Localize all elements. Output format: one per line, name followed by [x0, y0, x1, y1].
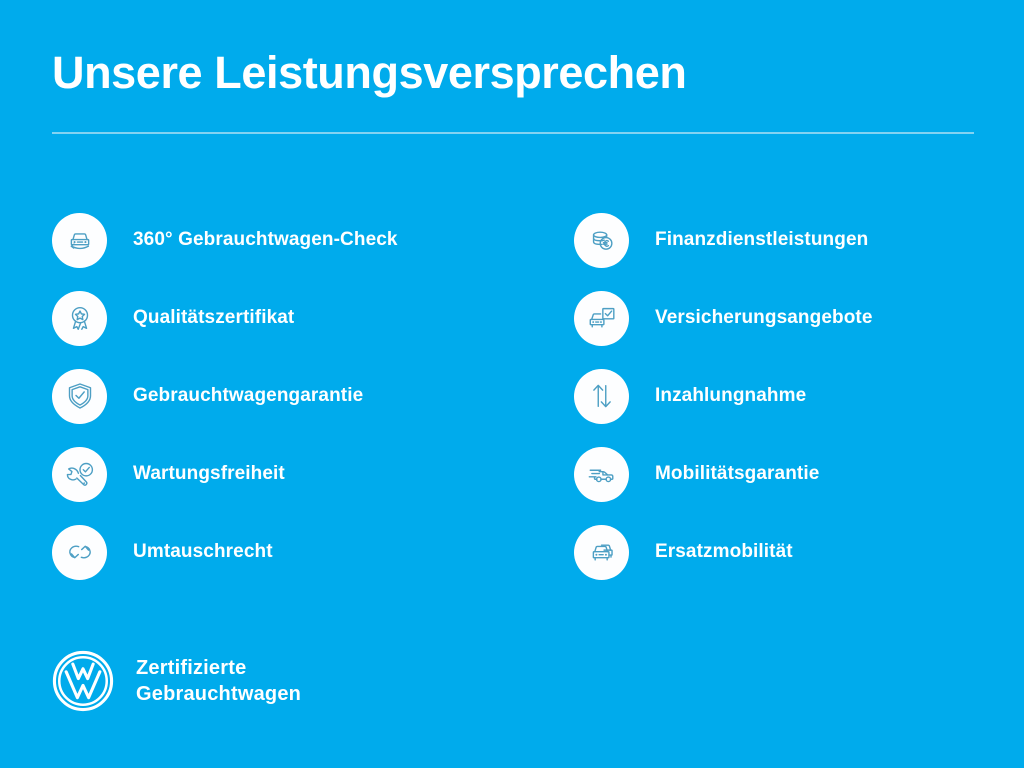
- feature-grid: 360° Gebrauchtwagen-Check Finanzdienstle…: [52, 201, 977, 591]
- award-rosette-icon: [52, 291, 107, 346]
- arrows-up-down-icon: [574, 369, 629, 424]
- two-cars-icon: [574, 525, 629, 580]
- car-document-check-icon: [574, 291, 629, 346]
- feature-label: Inzahlungnahme: [655, 384, 806, 408]
- feature-item-versicherungsangebote[interactable]: Versicherungsangebote: [574, 279, 977, 357]
- feature-item-qualitaetszertifikat[interactable]: Qualitätszertifikat: [52, 279, 574, 357]
- feature-label: Ersatzmobilität: [655, 540, 793, 564]
- feature-label: Mobilitätsgarantie: [655, 462, 819, 486]
- brand-footer: Zertifizierte Gebrauchtwagen: [52, 650, 301, 712]
- feature-label: Finanzdienstleistungen: [655, 228, 868, 252]
- feature-item-mobilitaetsgarantie[interactable]: Mobilitätsgarantie: [574, 435, 977, 513]
- title-divider: [52, 132, 974, 134]
- brand-line-1: Zertifizierte: [136, 655, 301, 681]
- feature-label: Wartungsfreiheit: [133, 462, 285, 486]
- feature-item-inzahlungnahme[interactable]: Inzahlungnahme: [574, 357, 977, 435]
- car-360-check-icon: [52, 213, 107, 268]
- shield-check-icon: [52, 369, 107, 424]
- page-title: Unsere Leistungsversprechen: [52, 46, 974, 100]
- feature-item-360-check[interactable]: 360° Gebrauchtwagen-Check: [52, 201, 574, 279]
- brand-line-2: Gebrauchtwagen: [136, 681, 301, 707]
- feature-item-umtauschrecht[interactable]: Umtauschrecht: [52, 513, 574, 591]
- wrench-check-icon: [52, 447, 107, 502]
- brand-text: Zertifizierte Gebrauchtwagen: [136, 655, 301, 707]
- feature-item-wartungsfreiheit[interactable]: Wartungsfreiheit: [52, 435, 574, 513]
- feature-item-ersatzmobilitaet[interactable]: Ersatzmobilität: [574, 513, 977, 591]
- slide-root: Unsere Leistungsversprechen 360° Gebrauc…: [0, 0, 1024, 768]
- volkswagen-logo-icon: [52, 650, 114, 712]
- feature-label: 360° Gebrauchtwagen-Check: [133, 228, 398, 252]
- feature-item-finanzdienstleistungen[interactable]: Finanzdienstleistungen: [574, 201, 977, 279]
- exchange-arrows-icon: [52, 525, 107, 580]
- feature-label: Umtauschrecht: [133, 540, 273, 564]
- feature-label: Qualitätszertifikat: [133, 306, 294, 330]
- header: Unsere Leistungsversprechen: [52, 46, 974, 100]
- coins-euro-icon: [574, 213, 629, 268]
- feature-item-gebrauchtwagengarantie[interactable]: Gebrauchtwagengarantie: [52, 357, 574, 435]
- feature-label: Gebrauchtwagengarantie: [133, 384, 363, 408]
- car-motion-icon: [574, 447, 629, 502]
- feature-label: Versicherungsangebote: [655, 306, 873, 330]
